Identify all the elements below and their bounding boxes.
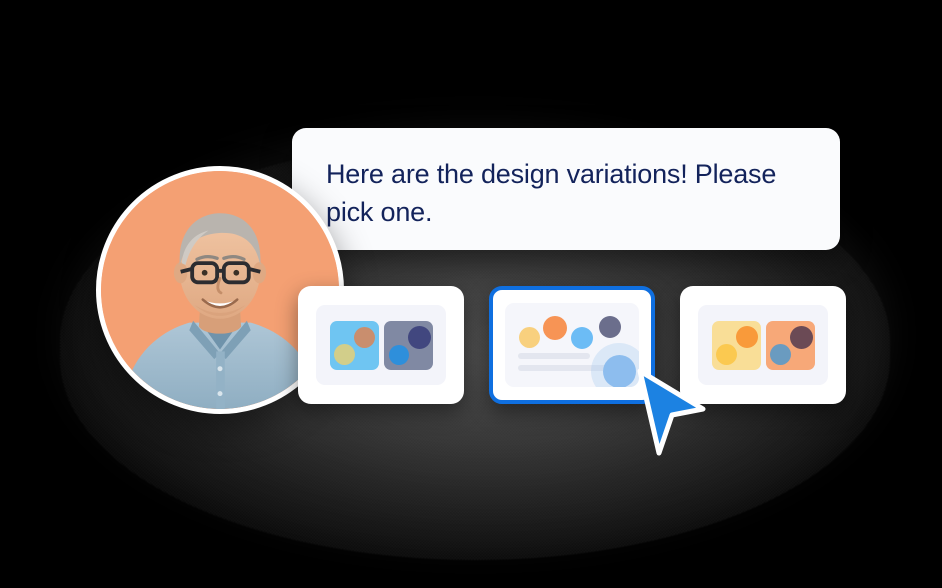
card-1-tile-a (330, 321, 379, 370)
scene-canvas: Here are the design variations! Please p… (0, 0, 942, 588)
card-2-dot-2 (543, 316, 567, 340)
card-3-tile-a-dot-2 (736, 326, 758, 348)
card-3-tile-b (766, 321, 815, 370)
click-ripple-indicator (603, 355, 636, 387)
card-1-tile-b-dot-2 (408, 326, 431, 349)
design-variation-card-1[interactable] (298, 286, 464, 404)
chat-message-text: Here are the design variations! Please p… (326, 156, 810, 232)
card-1-tile-a-dot-1 (334, 344, 355, 365)
card-3-tile-a (712, 321, 761, 370)
design-variations-list (298, 286, 846, 408)
chat-message-bubble: Here are the design variations! Please p… (292, 128, 840, 250)
card-2-preview (505, 303, 639, 387)
card-2-bar-1 (518, 353, 590, 359)
card-2-dot-4 (599, 316, 621, 338)
card-3-tile-b-dot-1 (770, 344, 791, 365)
card-1-tile-b-dot-1 (389, 345, 409, 365)
card-3-tile-b-dot-2 (790, 326, 813, 349)
card-1-tile-b (384, 321, 433, 370)
card-2-dot-3 (571, 327, 593, 349)
card-2-dot-1 (519, 327, 540, 348)
card-3-preview (698, 305, 828, 385)
card-1-tile-a-dot-2 (354, 327, 375, 348)
design-variation-card-3[interactable] (680, 286, 846, 404)
card-1-preview (316, 305, 446, 385)
design-variation-card-2[interactable] (489, 286, 655, 404)
card-3-tile-a-dot-1 (716, 344, 737, 365)
